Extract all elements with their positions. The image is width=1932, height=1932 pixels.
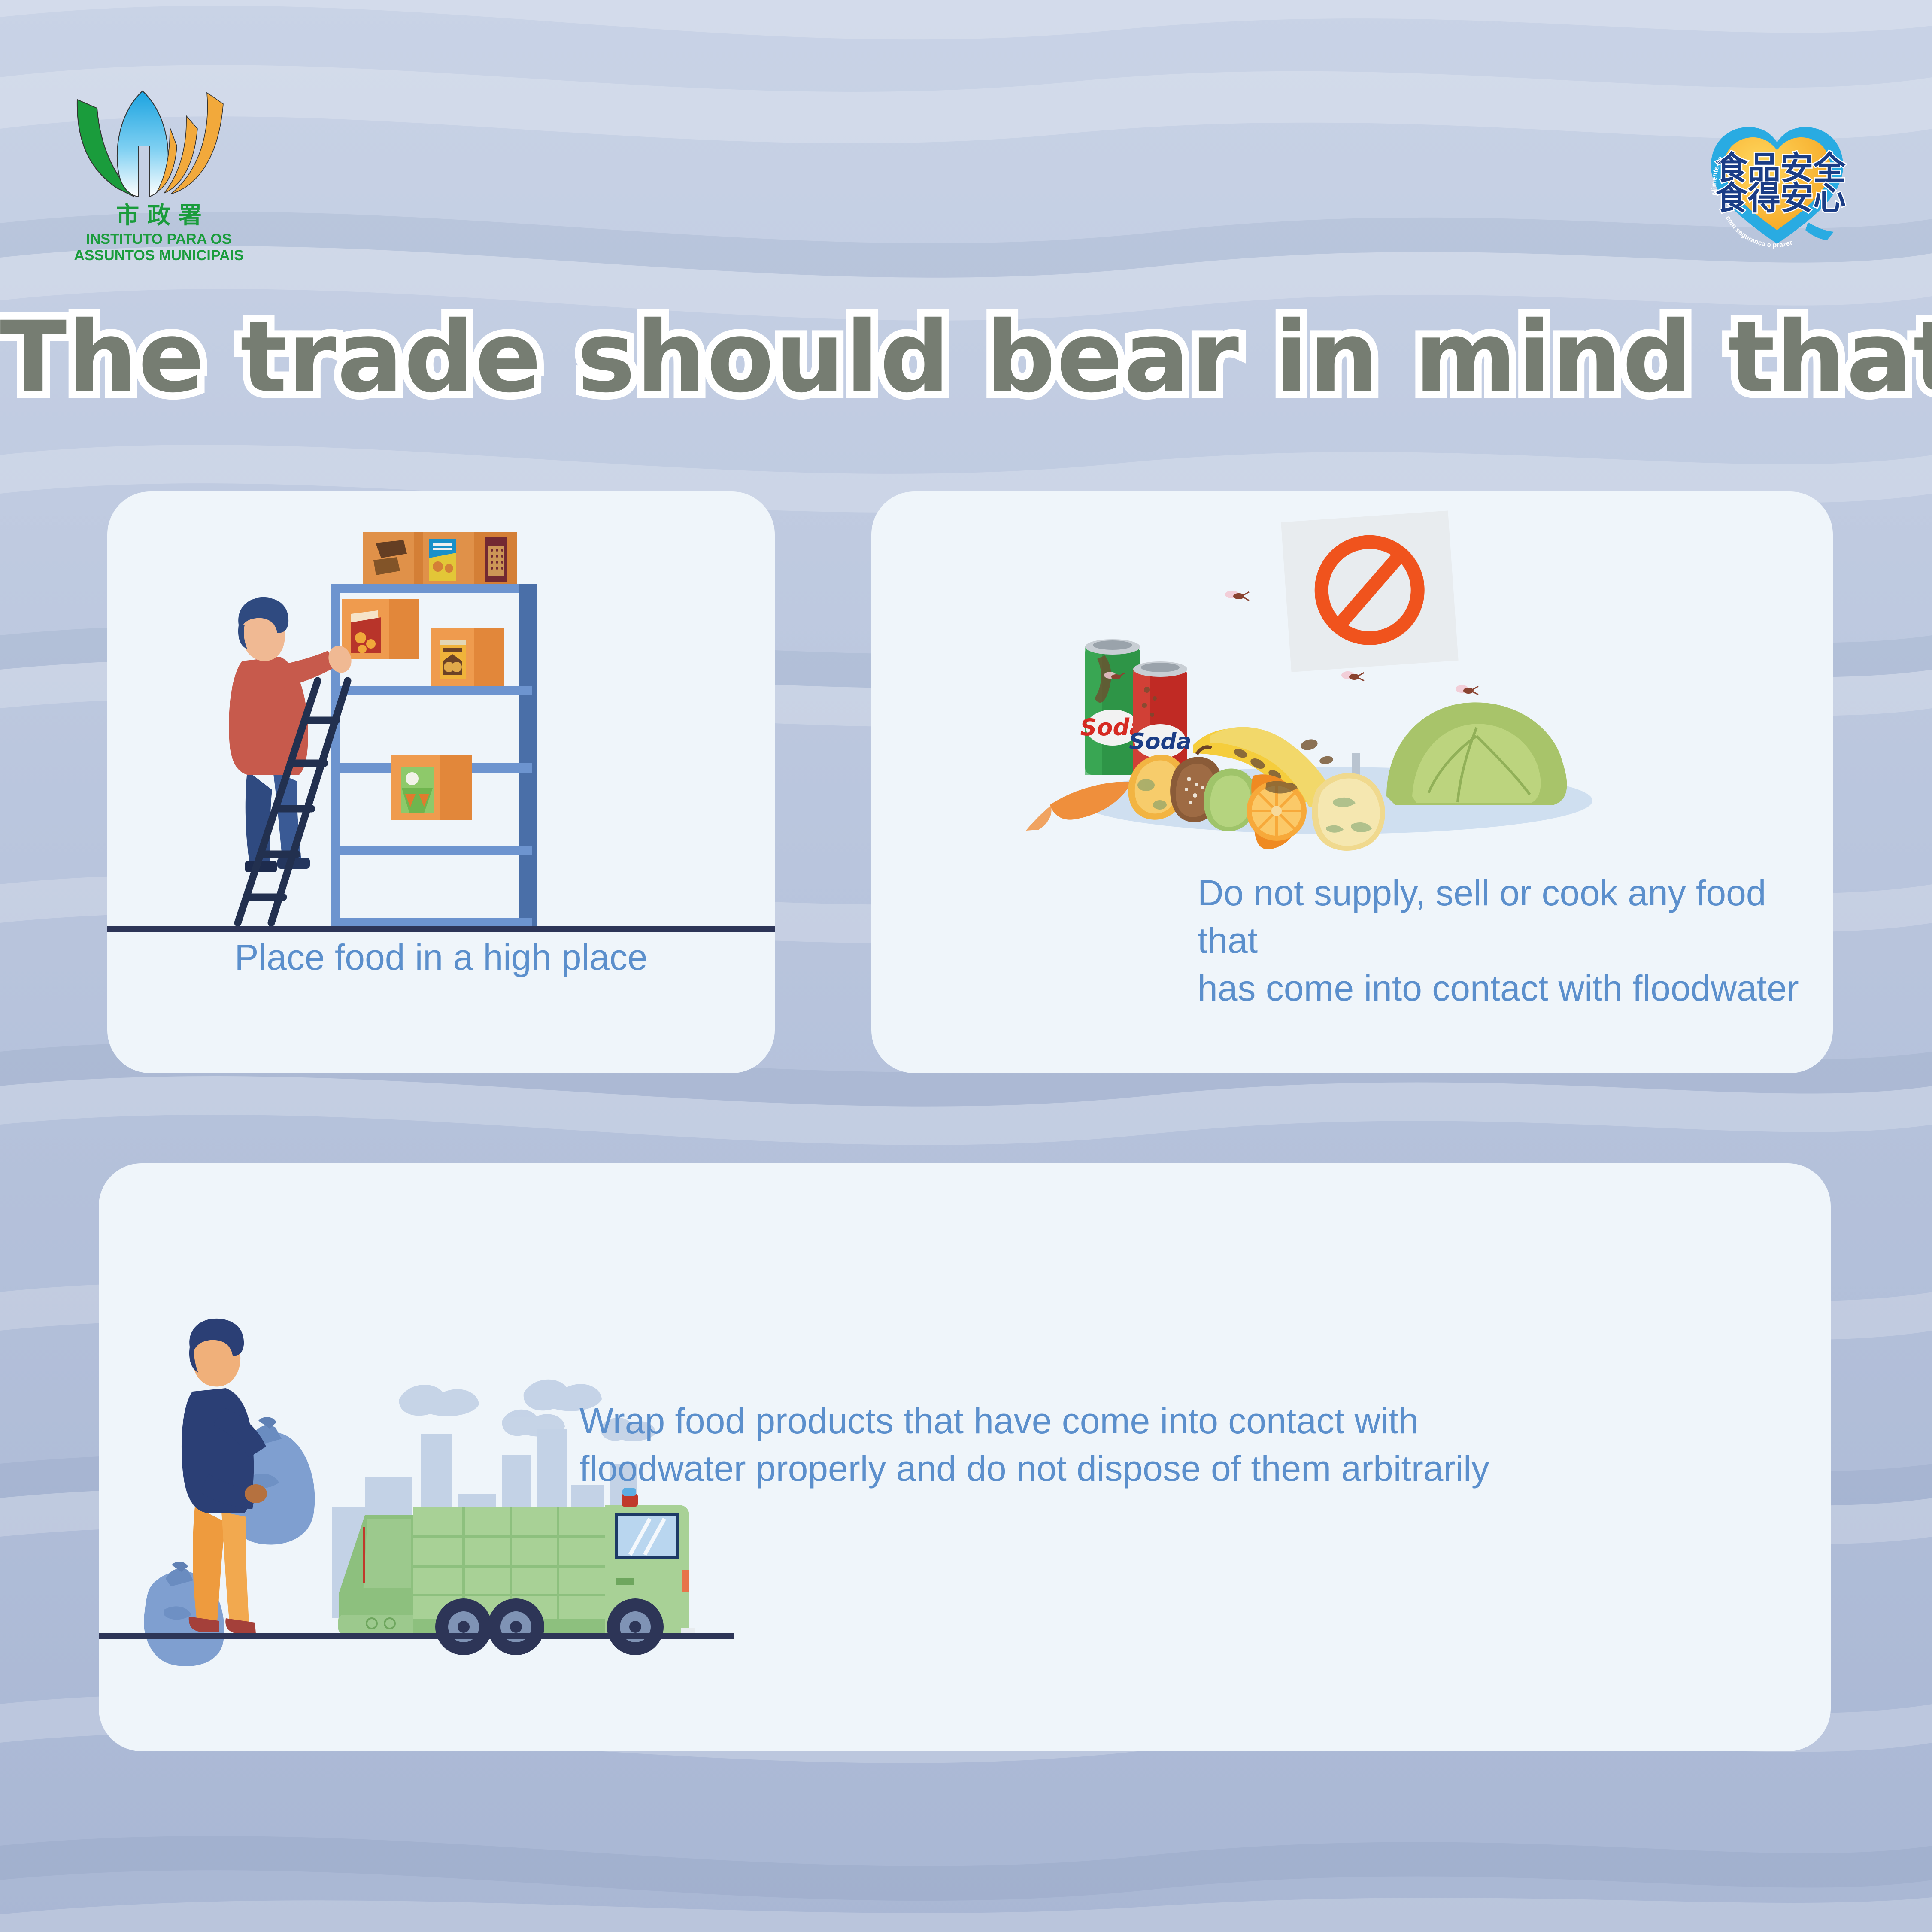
card-place-food-high: Place food in a high place — [107, 491, 775, 1073]
card1-caption: Place food in a high place — [107, 934, 775, 981]
illustration-spoiled-food-prohibition: Soda Soda — [1009, 504, 1721, 861]
food-safety-chinese-line2: 食得安心 — [1715, 179, 1846, 217]
card-wrap-and-dispose: Wrap food products that have come into c… — [99, 1163, 1831, 1751]
food-safety-logo: 食品安全 食得安心 Alimente-se com segurança e pr… — [1700, 107, 1854, 253]
card3-caption-line1: Wrap food products that have come into c… — [579, 1397, 1777, 1445]
page-title: The trade should bear in mind that — [0, 308, 1932, 406]
illustration-worker-ladder-shelf — [146, 515, 738, 927]
iam-logo-chinese: 市 政 署 — [116, 202, 202, 229]
soda-can-red-label: Soda — [1129, 729, 1192, 755]
card2-caption-line2: has come into contact with floodwater — [1198, 964, 1807, 1012]
ground-line-card1 — [107, 926, 775, 932]
card-no-floodwater-food: Soda Soda — [871, 491, 1833, 1073]
card2-caption-line1: Do not supply, sell or cook any food tha… — [1198, 869, 1807, 964]
card3-caption: Wrap food products that have come into c… — [579, 1397, 1777, 1492]
iam-logo: 市 政 署 INSTITUTO PARA OS ASSUNTOS MUNICIP… — [69, 82, 249, 266]
card2-caption: Do not supply, sell or cook any food tha… — [1198, 869, 1807, 1012]
card3-caption-line2: floodwater properly and do not dispose o… — [579, 1445, 1777, 1492]
iam-logo-line2: ASSUNTOS MUNICIPAIS — [74, 247, 243, 264]
iam-logo-line1: INSTITUTO PARA OS — [86, 231, 231, 247]
man-with-bag — [182, 1319, 315, 1634]
ground-line-card3 — [99, 1633, 734, 1639]
